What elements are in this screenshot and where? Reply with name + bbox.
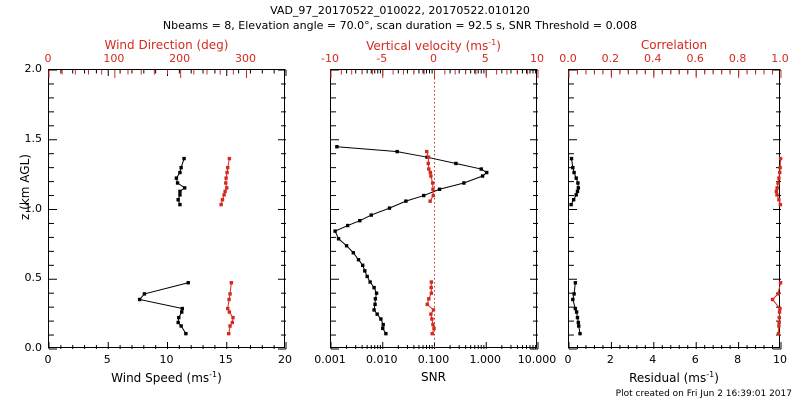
plot-panel-2 bbox=[330, 69, 537, 348]
data-point bbox=[228, 157, 231, 160]
data-point bbox=[571, 166, 574, 169]
data-point bbox=[375, 292, 378, 295]
data-point bbox=[177, 316, 180, 319]
data-point bbox=[431, 323, 434, 326]
data-point bbox=[427, 155, 430, 158]
data-point bbox=[438, 188, 441, 191]
data-point bbox=[179, 324, 182, 327]
data-point bbox=[778, 171, 781, 174]
data-point bbox=[462, 181, 465, 184]
data-point bbox=[346, 224, 349, 227]
data-point bbox=[221, 198, 224, 201]
data-point bbox=[227, 298, 230, 301]
data-point bbox=[575, 193, 578, 196]
data-point bbox=[225, 171, 228, 174]
data-point bbox=[454, 162, 457, 165]
x-axis-label-top: Vertical velocity (ms-1) bbox=[330, 38, 537, 53]
data-point bbox=[224, 181, 227, 184]
y-tick-label: 0.5 bbox=[0, 271, 42, 284]
series-correlation bbox=[771, 157, 782, 335]
x-axis-label-bottom: SNR bbox=[330, 370, 537, 384]
data-point bbox=[181, 307, 184, 310]
data-point bbox=[430, 317, 433, 320]
data-point bbox=[178, 171, 181, 174]
data-point bbox=[429, 312, 432, 315]
data-point bbox=[777, 332, 780, 335]
plot-panel-3 bbox=[568, 69, 780, 348]
data-point bbox=[352, 251, 355, 254]
data-point bbox=[176, 321, 179, 324]
panel-1-plot-area bbox=[49, 70, 286, 349]
data-point bbox=[178, 203, 181, 206]
data-point bbox=[227, 332, 230, 335]
data-point bbox=[368, 280, 371, 283]
data-point bbox=[374, 297, 377, 300]
data-point bbox=[183, 186, 186, 189]
data-point bbox=[570, 157, 573, 160]
data-point bbox=[577, 186, 580, 189]
plot-panel-1 bbox=[48, 69, 285, 348]
data-point bbox=[429, 286, 432, 289]
data-point bbox=[485, 171, 488, 174]
data-point bbox=[365, 275, 368, 278]
data-point bbox=[779, 157, 782, 160]
y-tick-label: 1.5 bbox=[0, 132, 42, 145]
y-tick-label: 2.0 bbox=[0, 62, 42, 75]
data-point bbox=[425, 150, 428, 153]
data-point bbox=[775, 193, 778, 196]
plot-footer-timestamp: Plot created on Fri Jun 2 16:39:01 2017 bbox=[616, 389, 792, 399]
data-point bbox=[777, 324, 780, 327]
data-point bbox=[574, 307, 577, 310]
data-point bbox=[179, 166, 182, 169]
data-point bbox=[576, 190, 579, 193]
data-point bbox=[776, 292, 779, 295]
data-point bbox=[480, 167, 483, 170]
data-point bbox=[333, 229, 336, 232]
data-point bbox=[176, 198, 179, 201]
data-point bbox=[778, 310, 781, 313]
series-snr bbox=[333, 145, 488, 335]
data-point bbox=[223, 190, 226, 193]
x-axis-label-top: Correlation bbox=[568, 38, 780, 52]
data-point bbox=[187, 281, 190, 284]
data-point bbox=[381, 327, 384, 330]
data-point bbox=[395, 150, 398, 153]
data-point bbox=[431, 332, 434, 335]
x-tick-label-top: 1.0 bbox=[740, 52, 800, 65]
data-point bbox=[779, 203, 782, 206]
data-point bbox=[432, 308, 435, 311]
data-point bbox=[430, 292, 433, 295]
data-point bbox=[569, 203, 572, 206]
data-point bbox=[226, 307, 229, 310]
data-point bbox=[778, 316, 781, 319]
data-point bbox=[775, 186, 778, 189]
data-point bbox=[176, 181, 179, 184]
series-wind-direction bbox=[219, 157, 234, 335]
panel-2-plot-area bbox=[331, 70, 538, 349]
data-point bbox=[777, 176, 780, 179]
data-point bbox=[429, 174, 432, 177]
data-point bbox=[182, 157, 185, 160]
data-point bbox=[228, 292, 231, 295]
data-point bbox=[379, 317, 382, 320]
x-tick-label-bottom: 10 bbox=[740, 353, 800, 366]
data-point bbox=[576, 181, 579, 184]
data-point bbox=[578, 332, 581, 335]
data-point bbox=[373, 303, 376, 306]
data-point bbox=[231, 316, 234, 319]
data-point bbox=[361, 264, 364, 267]
data-point bbox=[230, 281, 233, 284]
data-point bbox=[375, 312, 378, 315]
data-point bbox=[370, 213, 373, 216]
data-point bbox=[225, 186, 228, 189]
data-point bbox=[184, 332, 187, 335]
data-point bbox=[178, 190, 181, 193]
y-tick-label: 1.0 bbox=[0, 202, 42, 215]
x-tick-label-top: 300 bbox=[206, 52, 286, 65]
data-point bbox=[384, 332, 387, 335]
data-point bbox=[572, 198, 575, 201]
data-point bbox=[180, 310, 183, 313]
data-point bbox=[771, 298, 774, 301]
data-point bbox=[226, 166, 229, 169]
data-point bbox=[577, 321, 580, 324]
data-point bbox=[231, 321, 234, 324]
data-point bbox=[138, 298, 141, 301]
data-point bbox=[335, 145, 338, 148]
y-tick-label: 0.0 bbox=[0, 341, 42, 354]
data-point bbox=[372, 286, 375, 289]
data-point bbox=[481, 174, 484, 177]
figure-title-line2: Nbeams = 8, Elevation angle = 70.0°, sca… bbox=[0, 19, 800, 32]
data-point bbox=[388, 206, 391, 209]
data-point bbox=[143, 292, 146, 295]
data-point bbox=[224, 176, 227, 179]
data-point bbox=[372, 308, 375, 311]
data-point bbox=[571, 298, 574, 301]
data-point bbox=[228, 310, 231, 313]
data-point bbox=[222, 193, 225, 196]
data-point bbox=[778, 166, 781, 169]
figure-title-line1: VAD_97_20170522_010022, 20170522.010120 bbox=[0, 4, 800, 17]
data-point bbox=[779, 281, 782, 284]
vad-profile-figure: VAD_97_20170522_010022, 20170522.010120 … bbox=[0, 0, 800, 400]
data-point bbox=[358, 219, 361, 222]
data-point bbox=[219, 203, 222, 206]
data-point bbox=[178, 193, 181, 196]
data-point bbox=[357, 258, 360, 261]
data-point bbox=[432, 327, 435, 330]
data-point bbox=[574, 281, 577, 284]
data-point bbox=[432, 194, 435, 197]
data-point bbox=[577, 324, 580, 327]
data-point bbox=[337, 237, 340, 240]
data-point bbox=[777, 198, 780, 201]
data-point bbox=[575, 310, 578, 313]
panel-3-plot-area bbox=[569, 70, 781, 349]
data-point bbox=[175, 176, 178, 179]
data-point bbox=[575, 176, 578, 179]
data-point bbox=[778, 307, 781, 310]
data-point bbox=[228, 324, 231, 327]
data-point bbox=[572, 171, 575, 174]
series-line bbox=[335, 147, 487, 334]
data-point bbox=[427, 167, 430, 170]
x-axis-label-top: Wind Direction (deg) bbox=[48, 38, 285, 52]
data-point bbox=[363, 269, 366, 272]
data-point bbox=[777, 321, 780, 324]
data-point bbox=[776, 181, 779, 184]
data-point bbox=[572, 292, 575, 295]
data-point bbox=[422, 194, 425, 197]
x-axis-label-bottom: Residual (ms-1) bbox=[568, 370, 780, 385]
data-point bbox=[576, 316, 579, 319]
data-point bbox=[430, 280, 433, 283]
data-point bbox=[431, 188, 434, 191]
data-point bbox=[426, 303, 429, 306]
y-axis-label: z (km AGL) bbox=[18, 142, 32, 232]
series-residual bbox=[569, 157, 581, 335]
data-point bbox=[427, 162, 430, 165]
data-point bbox=[427, 297, 430, 300]
data-point bbox=[428, 199, 431, 202]
data-point bbox=[775, 190, 778, 193]
data-point bbox=[429, 171, 432, 174]
data-point bbox=[345, 244, 348, 247]
data-point bbox=[382, 323, 385, 326]
x-axis-label-bottom: Wind Speed (ms-1) bbox=[48, 370, 285, 385]
data-point bbox=[404, 199, 407, 202]
series-wind-speed bbox=[138, 157, 190, 335]
data-point bbox=[431, 181, 434, 184]
